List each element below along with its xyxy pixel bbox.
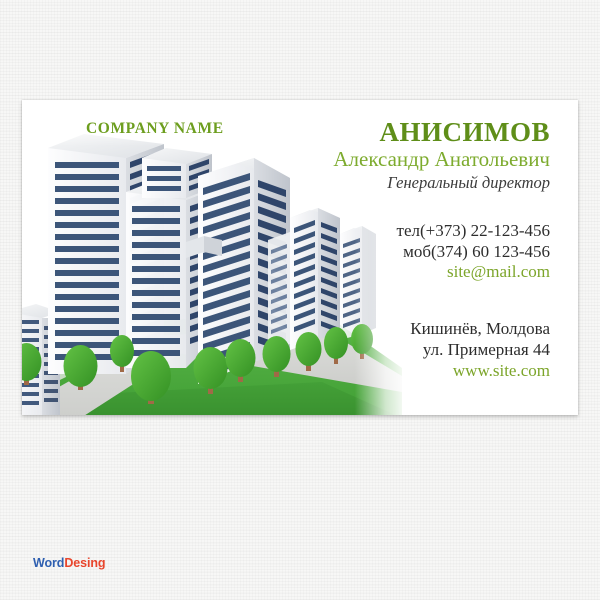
address-city-line: Кишинёв, Молдова [240, 319, 550, 340]
contact-text-column: АНИСИМОВ Александр Анатольевич Генеральн… [240, 118, 550, 381]
mobile-line: моб(374) 60 123-456 [240, 242, 550, 263]
business-card: COMPANY NAME АНИСИМОВ Александр Анатолье… [22, 100, 578, 415]
watermark-desing-part: Desing [64, 556, 105, 570]
email-line[interactable]: site@mail.com [240, 262, 550, 283]
contact-block: тел(+373) 22-123-456 моб(374) 60 123-456… [240, 221, 550, 283]
person-given-name: Александр Анатольевич [240, 148, 550, 172]
address-block: Кишинёв, Молдова ул. Примерная 44 www.si… [240, 319, 550, 381]
person-surname: АНИСИМОВ [240, 118, 550, 147]
phone-line: тел(+373) 22-123-456 [240, 221, 550, 242]
address-street-line: ул. Примерная 44 [240, 340, 550, 361]
watermark-word-part: Word [33, 556, 64, 570]
person-job-title: Генеральный директор [240, 173, 550, 193]
worddesing-watermark: WordDesing [33, 556, 105, 570]
company-name: COMPANY NAME [86, 120, 224, 138]
website-line[interactable]: www.site.com [240, 361, 550, 382]
